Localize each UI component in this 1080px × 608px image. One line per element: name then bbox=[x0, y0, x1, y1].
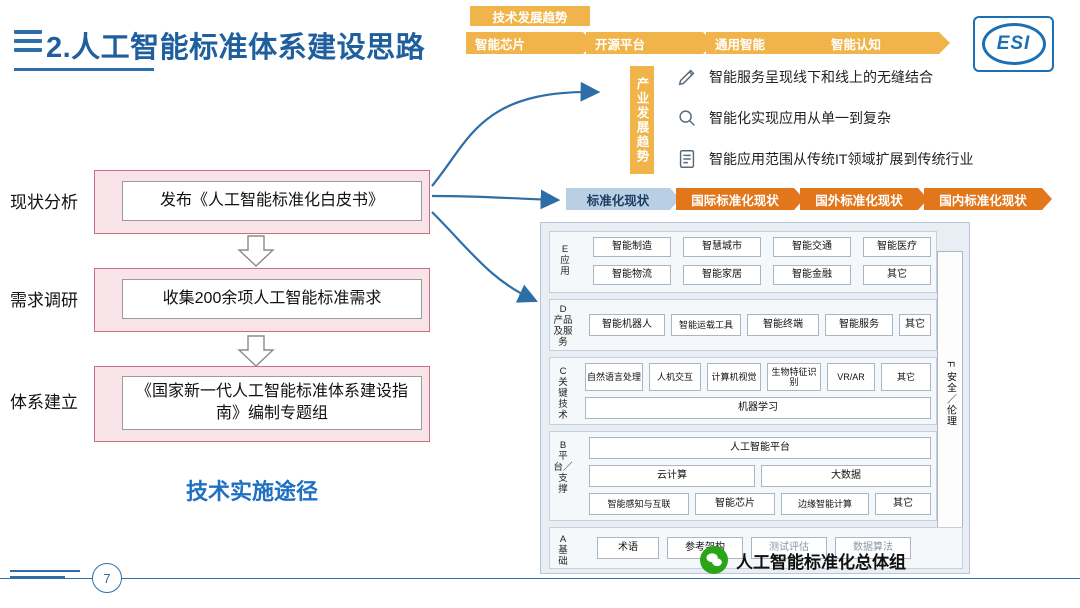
cell-d-1: 智能机器人 bbox=[589, 314, 665, 336]
flow-text-demand-research: 收集200余项人工智能标准需求 bbox=[122, 279, 422, 319]
cell-b-3: 大数据 bbox=[761, 465, 931, 487]
cell-c-6: 其它 bbox=[881, 363, 931, 391]
flow-label-status-analysis: 现状分析 bbox=[10, 188, 78, 213]
footer-divider bbox=[0, 578, 1080, 579]
flow-text-status-analysis: 发布《人工智能标准化白皮书》 bbox=[122, 181, 422, 221]
chevron-cognitive-intelligence-label: 智能认知 bbox=[831, 34, 881, 53]
cell-c-3: 计算机视觉 bbox=[707, 363, 761, 391]
chevron-general-intelligence: 通用智能 bbox=[706, 32, 823, 54]
industry-trend-row-3: 智能应用范围从传统IT领域扩展到传统行业 bbox=[674, 146, 973, 172]
cell-c-4: 生物特征识别 bbox=[767, 363, 821, 391]
cell-c-5: VR/AR bbox=[827, 363, 875, 391]
industry-trend-text-1: 智能服务呈现线下和线上的无缝结合 bbox=[709, 67, 933, 87]
cell-b-6: 边缘智能计算 bbox=[781, 493, 869, 515]
band-domestic-status-label: 国内标准化现状 bbox=[939, 190, 1027, 209]
wechat-account-name: 人工智能标准化总体组 bbox=[736, 548, 906, 573]
ai-standard-framework: F 安全／伦理 E应用 智能制造 智慧城市 智能交通 智能医疗 智能物流 智能家… bbox=[540, 222, 970, 574]
cell-c-2: 人机交互 bbox=[649, 363, 701, 391]
band-foreign-status: 国外标准化现状 bbox=[800, 188, 918, 210]
footer-decoration-bars bbox=[10, 570, 80, 586]
chevron-general-intelligence-label: 通用智能 bbox=[715, 34, 765, 53]
title-decoration-bars bbox=[14, 30, 42, 64]
band-international-status-label: 国际标准化现状 bbox=[691, 190, 779, 209]
cell-b-4: 智能感知与互联 bbox=[589, 493, 689, 515]
esi-logo-text: ESI bbox=[982, 23, 1046, 65]
industry-trend-vertical-label: 产业发展趋势 bbox=[630, 66, 654, 174]
band-domestic-status: 国内标准化现状 bbox=[924, 188, 1042, 210]
industry-trend-text-2: 智能化实现应用从单一到复杂 bbox=[709, 108, 891, 128]
wechat-icon bbox=[700, 546, 728, 574]
cell-c-7: 机器学习 bbox=[585, 397, 931, 419]
tech-path-caption: 技术实施途径 bbox=[186, 474, 318, 506]
pencil-icon bbox=[674, 64, 700, 90]
cell-e-8: 其它 bbox=[863, 265, 931, 285]
cell-e-6: 智能家居 bbox=[683, 265, 761, 285]
framework-row-e-side: E应用 bbox=[555, 245, 575, 278]
cell-d-4: 智能服务 bbox=[825, 314, 893, 336]
cell-d-2: 智能运载工具 bbox=[671, 314, 741, 336]
document-icon bbox=[674, 146, 700, 172]
magnifier-icon bbox=[674, 105, 700, 131]
flow-text-system-build: 《国家新一代人工智能标准体系建设指南》编制专题组 bbox=[122, 376, 422, 430]
band-standardization-status-label: 标准化现状 bbox=[587, 190, 650, 209]
cell-e-5: 智能物流 bbox=[593, 265, 671, 285]
tech-trend-label: 技术发展趋势 bbox=[470, 6, 590, 26]
cell-b-5: 智能芯片 bbox=[695, 493, 775, 515]
industry-trend-text-3: 智能应用范围从传统IT领域扩展到传统行业 bbox=[709, 149, 973, 169]
esi-logo: ESI bbox=[973, 16, 1054, 72]
cell-e-1: 智能制造 bbox=[593, 237, 671, 257]
cell-d-5: 其它 bbox=[899, 314, 931, 336]
band-standardization-status: 标准化现状 bbox=[566, 188, 670, 210]
framework-row-c-side: C关键技术 bbox=[553, 367, 573, 422]
chevron-open-platform-label: 开源平台 bbox=[595, 34, 645, 53]
flow-label-demand-research: 需求调研 bbox=[10, 286, 78, 311]
chevron-cognitive-intelligence: 智能认知 bbox=[822, 32, 939, 54]
industry-trend-row-1: 智能服务呈现线下和线上的无缝结合 bbox=[674, 64, 933, 90]
band-foreign-status-label: 国外标准化现状 bbox=[815, 190, 903, 209]
chevron-smart-chip: 智能芯片 bbox=[466, 32, 583, 54]
cell-e-3: 智能交通 bbox=[773, 237, 851, 257]
framework-row-d-side: D产品及服务 bbox=[553, 305, 573, 349]
industry-trend-row-2: 智能化实现应用从单一到复杂 bbox=[674, 105, 891, 131]
band-international-status: 国际标准化现状 bbox=[676, 188, 794, 210]
cell-e-4: 智能医疗 bbox=[863, 237, 931, 257]
chevron-open-platform: 开源平台 bbox=[586, 32, 703, 54]
framework-side-f: F 安全／伦理 bbox=[937, 251, 963, 537]
wechat-account: 人工智能标准化总体组 bbox=[700, 546, 906, 574]
page-number: 7 bbox=[92, 563, 122, 593]
chevron-smart-chip-label: 智能芯片 bbox=[475, 34, 525, 53]
framework-row-b-side: B平台／支撑 bbox=[553, 441, 573, 496]
cell-c-1: 自然语言处理 bbox=[585, 363, 643, 391]
cell-b-1: 人工智能平台 bbox=[589, 437, 931, 459]
cell-e-7: 智能金融 bbox=[773, 265, 851, 285]
page-title: 2.人工智能标准体系建设思路 bbox=[46, 24, 425, 66]
cell-d-3: 智能终端 bbox=[747, 314, 819, 336]
framework-row-a-side: A基础 bbox=[553, 535, 573, 568]
cell-e-2: 智慧城市 bbox=[683, 237, 761, 257]
title-underline bbox=[14, 68, 154, 71]
framework-side-f-label: F 安全／伦理 bbox=[943, 361, 958, 427]
cell-b-7: 其它 bbox=[875, 493, 931, 515]
cell-b-2: 云计算 bbox=[589, 465, 755, 487]
flow-label-system-build: 体系建立 bbox=[10, 388, 78, 413]
cell-a-1: 术语 bbox=[597, 537, 659, 559]
